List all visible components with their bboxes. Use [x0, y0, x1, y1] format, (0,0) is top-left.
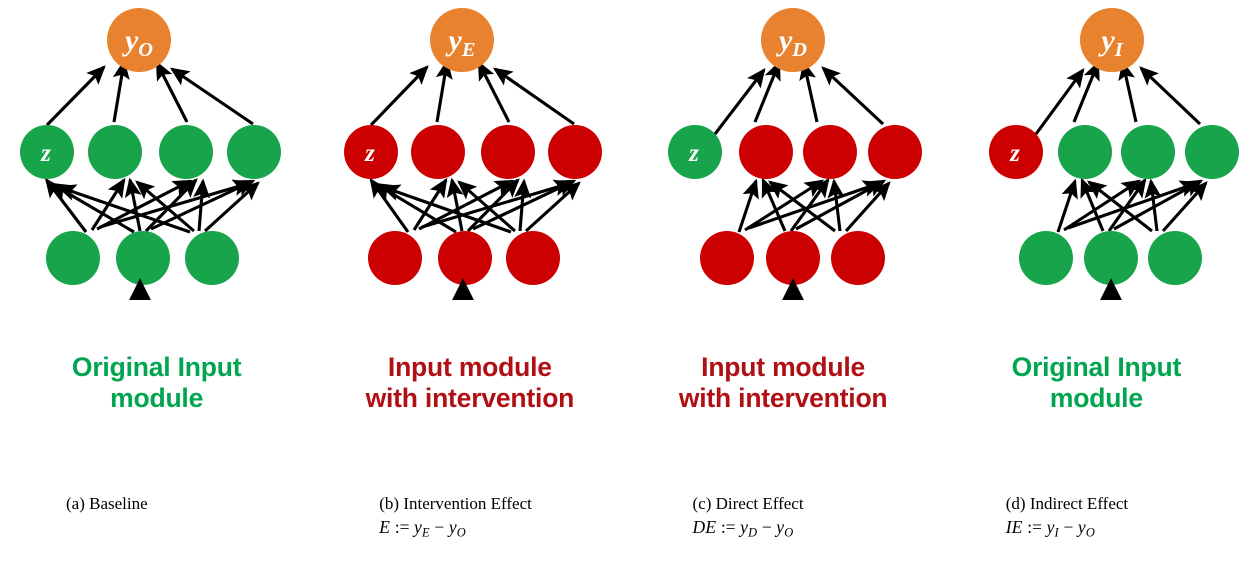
panel-a-network: z yO — [0, 0, 313, 300]
input-node-1 — [46, 231, 100, 285]
panel-b-network: z yE — [313, 0, 626, 300]
hidden-node-3 — [803, 125, 857, 179]
panel-a: z yO Original Input module (a) Baseline — [0, 0, 313, 569]
panel-d: z yI Original Input module (d) Indirect … — [940, 0, 1253, 569]
caption-a-title: (a) Baseline — [66, 494, 148, 513]
hidden-node-3 — [1121, 125, 1175, 179]
edges-input-to-hidden — [371, 180, 579, 232]
module-label-a: Original Input module — [0, 352, 313, 414]
caption-c-title: (c) Direct Effect — [693, 494, 804, 513]
input-node-2 — [438, 231, 492, 285]
hidden-node-2 — [739, 125, 793, 179]
module-label-c: Input module with intervention — [627, 352, 940, 414]
hidden-node-4 — [868, 125, 922, 179]
input-node-2 — [766, 231, 820, 285]
z-node-label: z — [688, 140, 699, 167]
edges-input-to-hidden — [1058, 180, 1206, 232]
input-node-3 — [831, 231, 885, 285]
caption-d: (d) Indirect Effect IE := yI − yO — [940, 492, 1253, 544]
input-module-arrow — [1099, 286, 1123, 300]
hidden-nodes — [668, 125, 922, 179]
edges-hidden-to-output — [371, 62, 574, 125]
caption-c: (c) Direct Effect DE := yD − yO — [627, 492, 940, 544]
hidden-node-2 — [411, 125, 465, 179]
edges-input-to-hidden — [47, 180, 259, 232]
input-module-arrow — [451, 286, 475, 300]
hidden-node-4 — [1185, 125, 1239, 179]
hidden-node-2 — [88, 125, 142, 179]
caption-d-title: (d) Indirect Effect — [1006, 494, 1128, 513]
panel-c-network: z yD — [627, 0, 940, 300]
input-node-1 — [700, 231, 754, 285]
edges-hidden-to-output — [715, 63, 883, 134]
hidden-node-4 — [227, 125, 281, 179]
input-node-3 — [185, 231, 239, 285]
z-node-label: z — [40, 140, 51, 167]
input-module-arrow — [128, 286, 152, 300]
panel-c: z yD Input module with intervention (c) … — [627, 0, 940, 569]
caption-a: (a) Baseline — [0, 492, 313, 515]
figure-root: z yO Original Input module (a) Baseline — [0, 0, 1253, 569]
edges-hidden-to-output — [1036, 63, 1200, 134]
input-nodes — [700, 231, 885, 285]
module-label-d: Original Input module — [940, 352, 1253, 414]
input-module-arrow — [781, 286, 805, 300]
hidden-node-4 — [548, 125, 602, 179]
input-node-3 — [1148, 231, 1202, 285]
panel-b: z yE Input module with intervention (b) … — [313, 0, 626, 569]
caption-b-title: (b) Intervention Effect — [379, 494, 532, 513]
z-node-label: z — [1009, 140, 1020, 167]
input-node-3 — [506, 231, 560, 285]
hidden-node-3 — [481, 125, 535, 179]
hidden-nodes — [989, 125, 1239, 179]
hidden-node-2 — [1058, 125, 1112, 179]
hidden-nodes — [344, 125, 602, 179]
input-nodes — [368, 231, 560, 285]
z-node-label: z — [364, 140, 375, 167]
input-nodes — [46, 231, 239, 285]
input-nodes — [1019, 231, 1202, 285]
module-label-b: Input module with intervention — [313, 352, 626, 414]
caption-b-formula: E := yE − yO — [379, 515, 626, 544]
panel-d-network: z yI — [940, 0, 1253, 300]
edges-hidden-to-output — [47, 62, 253, 125]
caption-d-formula: IE := yI − yO — [1006, 515, 1253, 544]
edges-input-to-hidden — [739, 180, 889, 232]
input-node-2 — [116, 231, 170, 285]
hidden-nodes — [20, 125, 281, 179]
caption-c-formula: DE := yD − yO — [693, 515, 940, 544]
input-node-1 — [368, 231, 422, 285]
input-node-1 — [1019, 231, 1073, 285]
hidden-node-3 — [159, 125, 213, 179]
caption-b: (b) Intervention Effect E := yE − yO — [313, 492, 626, 544]
input-node-2 — [1084, 231, 1138, 285]
